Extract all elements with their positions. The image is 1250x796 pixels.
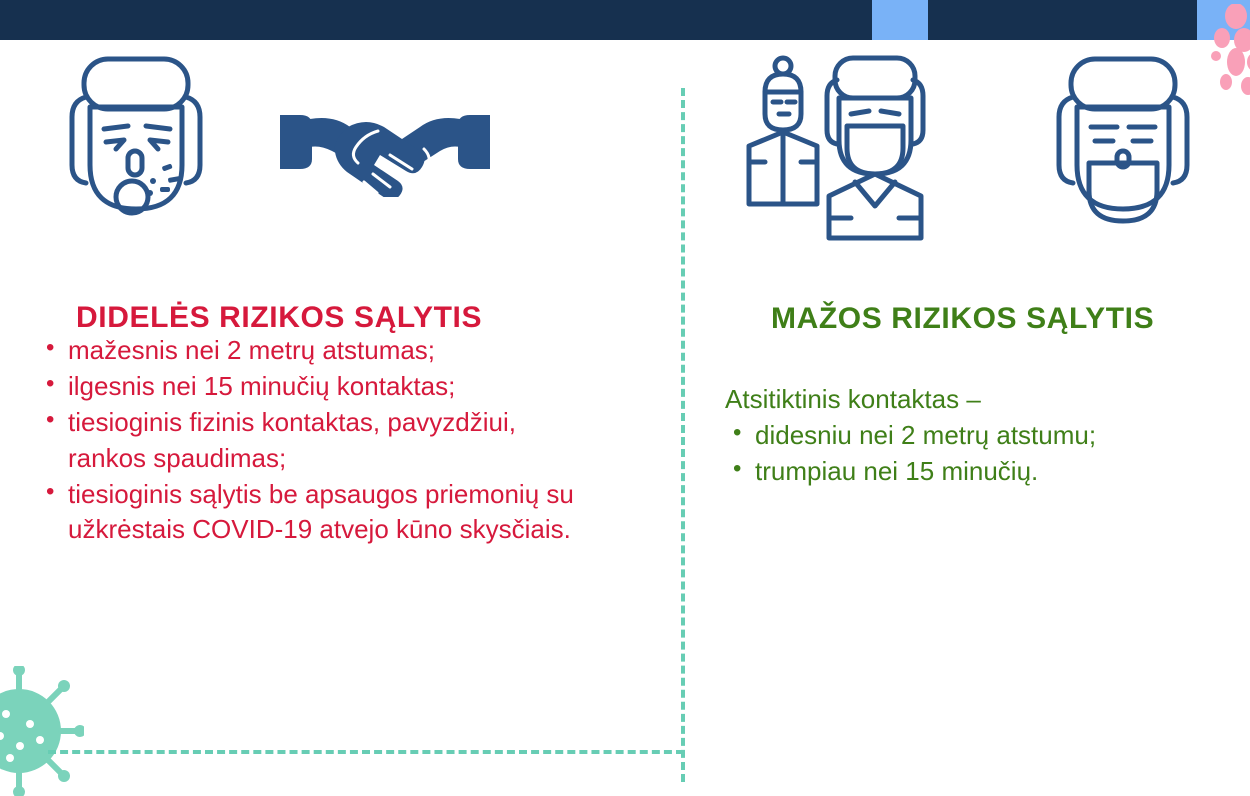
high-risk-panel: DIDELĖS RIZIKOS SĄLYTIS mažesnis nei 2 m… [0, 40, 681, 548]
low-risk-heading: MAŽOS RIZIKOS SĄLYTIS [681, 258, 1250, 334]
low-risk-intro-text: Atsitiktinis kontaktas – [681, 334, 1250, 418]
low-risk-icon-row [681, 40, 1250, 258]
low-risk-bullet-list: didesniu nei 2 metrų atstumu; trumpiau n… [681, 418, 1250, 490]
high-risk-heading: DIDELĖS RIZIKOS SĄLYTIS [0, 258, 681, 333]
masked-face-icon-slot [1043, 47, 1203, 252]
list-item: mažesnis nei 2 metrų atstumas; [38, 333, 600, 369]
list-item: trumpiau nei 15 minučių. [725, 454, 1250, 490]
handshake-icon-slot [278, 97, 492, 202]
horizontal-dashed-divider [48, 750, 684, 754]
high-risk-icon-row [0, 40, 681, 258]
two-people-icon [743, 52, 933, 242]
high-risk-bullet-list: mažesnis nei 2 metrų atstumas; ilgesnis … [0, 333, 600, 548]
topbar-accent-segment-1 [872, 0, 928, 40]
coughing-face-icon-slot [56, 47, 216, 252]
two-people-icon-slot [743, 52, 933, 247]
coughing-face-icon [56, 47, 216, 247]
list-item: tiesioginis sąlytis be apsaugos priemoni… [38, 477, 600, 549]
list-item: didesniu nei 2 metrų atstumu; [725, 418, 1250, 454]
masked-face-icon [1043, 47, 1203, 247]
teal-virus-decoration-icon [0, 666, 84, 796]
low-risk-panel: MAŽOS RIZIKOS SĄLYTIS Atsitiktinis konta… [681, 40, 1250, 490]
handshake-icon [278, 97, 492, 197]
topbar-accent-segment-2 [1197, 0, 1250, 40]
top-decorative-bar [0, 0, 1250, 40]
list-item: ilgesnis nei 15 minučių kontaktas; [38, 369, 600, 405]
list-item: tiesioginis fizinis kontaktas, pavyzdžiu… [38, 405, 600, 477]
